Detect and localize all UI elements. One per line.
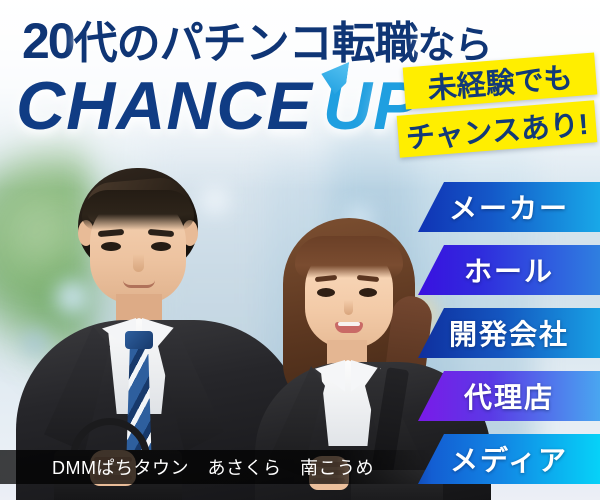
headline-number: 20 xyxy=(22,13,74,69)
chance-up-banner: 20代のパチンコ転職なら CHANCEUP 未経験でも チャンスあり! メーカー… xyxy=(0,0,600,500)
logo-chance-up: CHANCEUP xyxy=(16,72,419,140)
logo-accent-letter: U xyxy=(323,68,373,144)
headline: 20代のパチンコ転職なら xyxy=(22,16,492,66)
caption-bar: DMMぱちタウン あさくら 南こうめ xyxy=(0,450,432,484)
man-eye-right xyxy=(151,242,171,251)
woman-eye-right xyxy=(359,288,377,297)
man-nose xyxy=(133,254,144,272)
category-button-media[interactable]: メディア xyxy=(418,434,600,484)
man-fringe xyxy=(82,190,194,230)
man-eye-left xyxy=(101,242,121,251)
woman-eye-left xyxy=(317,288,335,297)
man-necktie-knot xyxy=(125,331,153,349)
woman-mouth xyxy=(335,322,363,333)
category-button-hall[interactable]: ホール xyxy=(418,245,600,295)
man-mouth xyxy=(123,280,155,288)
category-button-developer[interactable]: 開発会社 xyxy=(418,308,600,358)
woman-fringe xyxy=(295,236,403,278)
headline-middle: 代のパチンコ転職 xyxy=(74,19,418,68)
logo-word: CHANCE xyxy=(16,68,313,144)
category-button-agency[interactable]: 代理店 xyxy=(418,371,600,421)
woman-nose xyxy=(344,300,353,315)
category-button-maker[interactable]: メーカー xyxy=(418,182,600,232)
